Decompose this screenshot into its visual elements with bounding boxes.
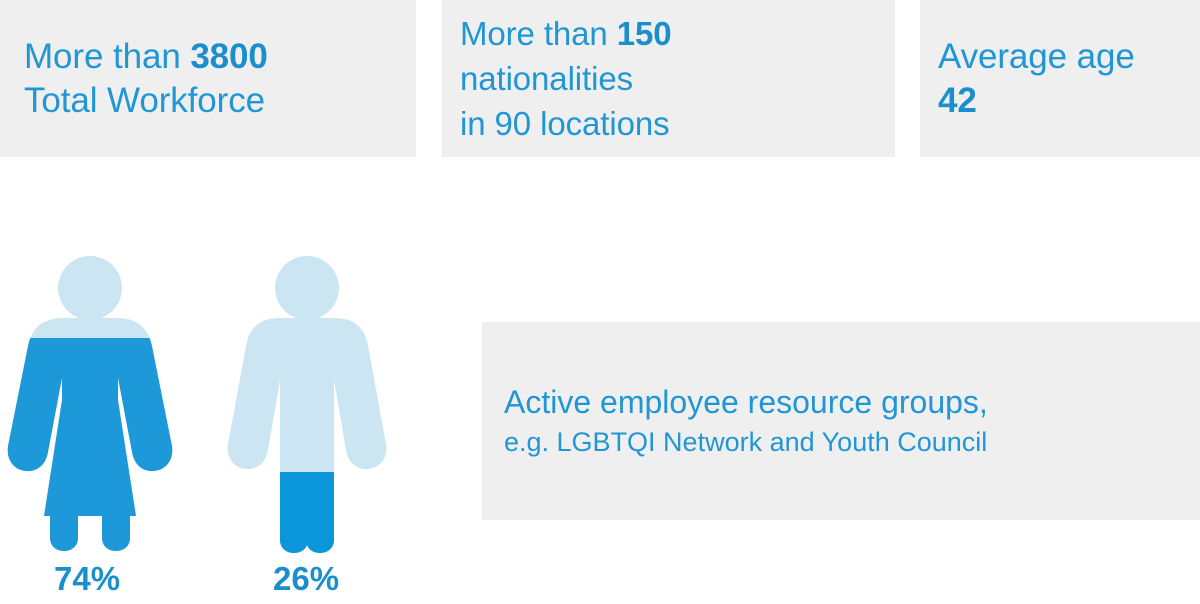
stat-text: More than	[24, 37, 190, 76]
stat-text: in 90 locations	[460, 105, 669, 142]
stat-number: 3800	[190, 37, 267, 76]
stat-card-total-workforce: More than 3800 Total Workforce	[0, 0, 416, 157]
male-percentage-label: 26%	[273, 560, 339, 598]
stat-card-average-age: Average age 42	[920, 0, 1200, 157]
female-figure-icon	[0, 250, 200, 560]
stat-number: 150	[617, 15, 672, 52]
stat-text: Average age	[938, 37, 1135, 76]
erg-card: Active employee resource groups, e.g. LG…	[482, 322, 1200, 520]
gender-split-pictogram	[0, 250, 420, 560]
stat-text: nationalities	[460, 60, 633, 97]
stat-line: More than 3800	[24, 35, 392, 79]
female-percentage-label: 74%	[54, 560, 120, 598]
stat-line: More than 150	[460, 11, 877, 56]
stat-number: 42	[938, 81, 977, 120]
male-figure-icon	[220, 250, 420, 560]
erg-headline: Active employee resource groups,	[504, 381, 1178, 423]
stat-card-nationalities-locations: More than 150 nationalities in 90 locati…	[442, 0, 895, 157]
stat-line: 42	[938, 79, 1182, 123]
male-figure-value-fill	[220, 472, 420, 560]
female-figure-value-fill	[0, 338, 200, 560]
infographic-canvas: More than 3800 Total Workforce More than…	[0, 0, 1200, 604]
stat-line: nationalities	[460, 56, 877, 101]
stat-line: Average age	[938, 35, 1182, 79]
stat-text: More than	[460, 15, 617, 52]
stat-text: Total Workforce	[24, 81, 265, 120]
erg-subline: e.g. LGBTQI Network and Youth Council	[504, 423, 1178, 461]
pictogram-labels: 74% 26%	[0, 560, 420, 604]
stat-line: Total Workforce	[24, 79, 392, 123]
stat-line: in 90 locations	[460, 101, 877, 146]
pictogram-svg	[0, 250, 420, 560]
